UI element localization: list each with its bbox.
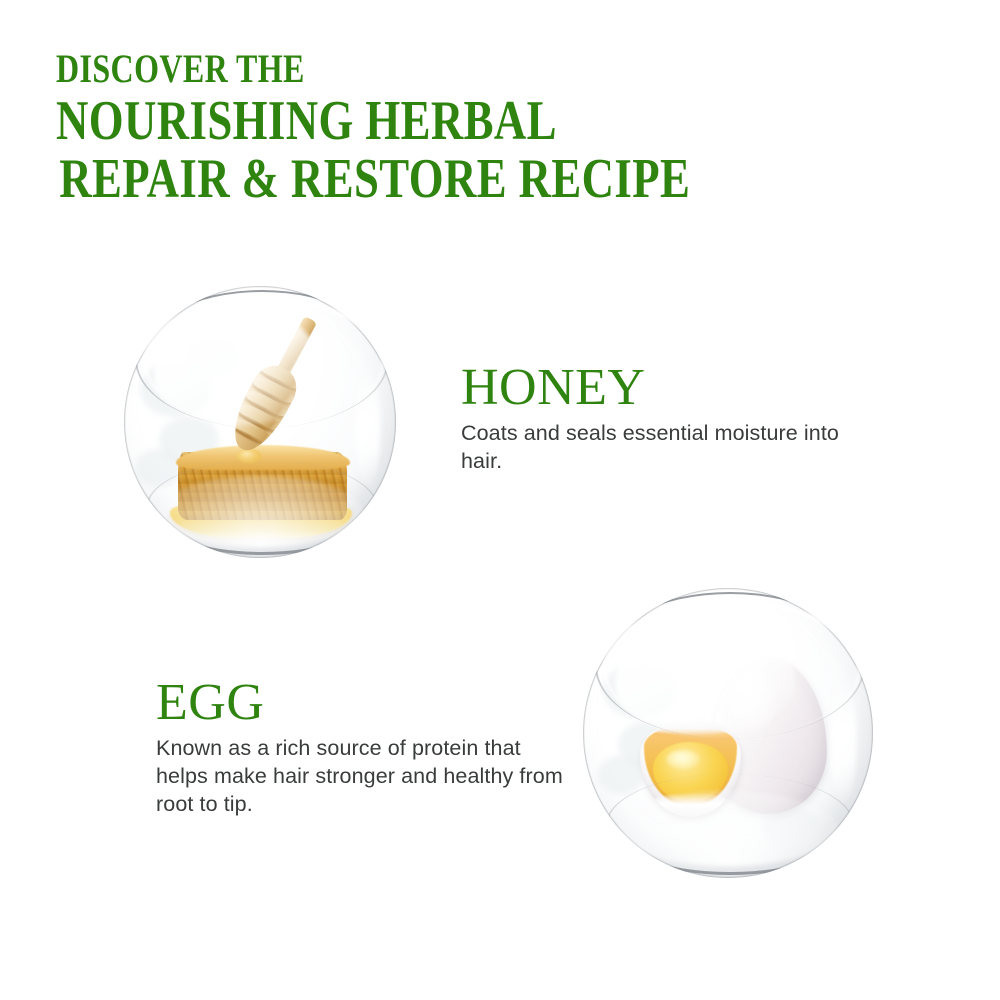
egg-text-block: EGG Known as a rich source of protein th… — [156, 676, 576, 818]
egg-ingredient-sphere — [583, 588, 873, 878]
glass-top-rim — [135, 290, 389, 428]
egg-title: EGG — [156, 676, 576, 730]
honey-text-block: HONEY Coats and seals essential moisture… — [461, 361, 881, 475]
headline-line-1: DISCOVER THE — [56, 48, 776, 90]
glass-bottom-rim — [606, 774, 854, 876]
headline-line-3: REPAIR & RESTORE RECIPE — [56, 150, 776, 208]
egg-description: Known as a rich source of protein that h… — [156, 734, 576, 818]
page-title: DISCOVER THE NOURISHING HERBAL REPAIR & … — [56, 48, 956, 208]
honey-title: HONEY — [461, 361, 881, 415]
honey-ingredient-sphere — [124, 286, 396, 558]
ingredient-benefits-poster: DISCOVER THE NOURISHING HERBAL REPAIR & … — [0, 0, 1000, 1000]
honey-description: Coats and seals essential moisture into … — [461, 419, 881, 475]
glass-sphere-egg — [583, 588, 873, 878]
glass-bottom-rim — [146, 460, 378, 555]
headline-line-2: NOURISHING HERBAL — [56, 92, 776, 150]
glass-top-rim — [595, 592, 866, 739]
glass-sphere-honey — [124, 286, 396, 558]
